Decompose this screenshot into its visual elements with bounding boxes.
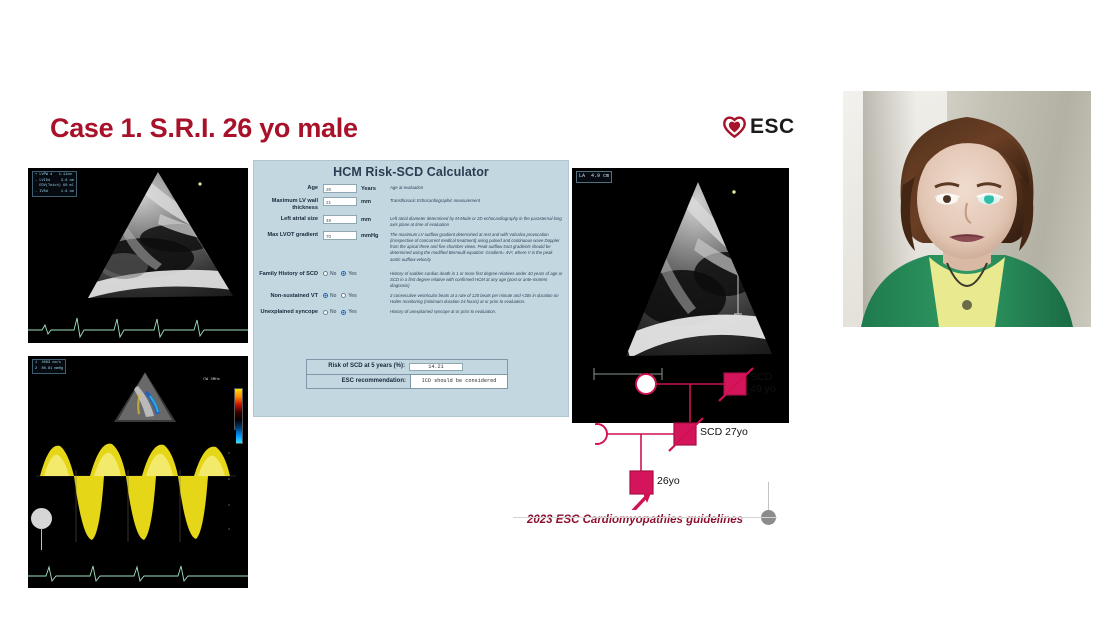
syncope-no-radio[interactable]: No: [323, 309, 336, 315]
field-label: Non-sustained VT: [256, 292, 323, 300]
calculator-radio-row: Unexplained syncope No Yes History of un…: [254, 308, 568, 319]
radio-label: No: [330, 293, 336, 299]
calculator-radio-row: Non-sustained VT No Yes 3 consecutive ve…: [254, 292, 568, 308]
field-description: The maximum LV outflow gradient determin…: [387, 231, 564, 262]
field-label: Age: [256, 184, 323, 192]
field-label: Max LVOT gradient: [256, 231, 323, 239]
page-title: Case 1. S.R.I. 26 yo male: [50, 113, 358, 144]
radio-dot: [323, 271, 328, 276]
esc-recommendation-value: ICD should be considered: [410, 375, 507, 389]
field-unit: mmHg: [361, 231, 378, 241]
field-description: History of unexplained syncope at or pri…: [387, 308, 564, 315]
field-description: History of sudden cardiac death in 1 or …: [387, 270, 564, 289]
ecg-trace: [28, 313, 248, 339]
echo-measurement-overlay: 1 4083 cm/s 2 80.81 mmHg: [32, 359, 66, 374]
slide-citation: 2023 ESC Cardiomyopathies guidelines: [527, 514, 743, 526]
syncope-yes-radio[interactable]: Yes: [341, 309, 356, 315]
family-history-yes-radio[interactable]: Yes: [341, 271, 356, 277]
field-unit: mm: [361, 215, 371, 225]
esc-logo: ESC: [722, 114, 795, 139]
field-description: Left atrial diameter determined by M-Mod…: [387, 215, 564, 228]
result-label: Risk of SCD at 5 years (%):: [307, 360, 409, 374]
handle-stem: [768, 482, 769, 510]
radio-label: No: [330, 271, 336, 277]
doppler-tag: CW 3MHz: [203, 378, 220, 382]
resize-handle-left[interactable]: [31, 508, 52, 529]
handle-stem: [41, 528, 42, 550]
radio-dot: [341, 271, 346, 276]
field-description: 3 consecutive ventricular beats at a rat…: [387, 292, 564, 305]
field-label: Left atrial size: [256, 215, 323, 223]
radio-dot: [323, 293, 328, 298]
presenter-video[interactable]: [843, 91, 1091, 327]
color-doppler-inset: [106, 370, 184, 428]
echo-image-parasternal-long-axis[interactable]: + LVPW d 1.11cm - LVIDd 3.8 cm EDV(Teich…: [28, 168, 248, 343]
esc-logo-text: ESC: [750, 115, 795, 139]
arrow-icon: [631, 493, 651, 510]
radio-dot: [323, 310, 328, 315]
result-row-recommendation: ESC recommendation: ICD should be consid…: [307, 375, 507, 389]
calculator-results: Risk of SCD at 5 years (%): 14.21 ESC re…: [306, 359, 508, 389]
ultrasound-sector: [586, 178, 786, 388]
pedigree-proband: [630, 471, 653, 494]
field-description: Age at evaluation: [387, 184, 564, 191]
svg-text:2: 2: [228, 503, 230, 507]
handle-guide-line: [513, 517, 777, 518]
pedigree-mother: [595, 424, 607, 444]
radio-label: Yes: [348, 293, 356, 299]
svg-text:4: 4: [228, 527, 230, 531]
presenter-figure: [843, 91, 1091, 327]
radio-dot: [341, 293, 346, 298]
age-input[interactable]: 26: [323, 184, 357, 193]
result-label: ESC recommendation:: [307, 375, 410, 389]
calculator-field-row: Left atrial size 49 mm Left atrial diame…: [254, 215, 568, 231]
radio-label: Yes: [348, 271, 356, 277]
left-atrial-size-input[interactable]: 49: [323, 215, 357, 224]
radio-label: Yes: [348, 309, 356, 315]
family-history-no-radio[interactable]: No: [323, 271, 336, 277]
svg-text:0: 0: [228, 477, 230, 481]
ecg-trace: [28, 558, 248, 584]
heart-icon: [722, 114, 747, 139]
result-row-risk: Risk of SCD at 5 years (%): 14.21: [307, 360, 507, 375]
echo-image-cw-doppler[interactable]: CW 3MHz: [28, 356, 248, 588]
echo-measurement-overlay: + LVPW d 1.11cm - LVIDd 3.8 cm EDV(Teich…: [32, 171, 77, 197]
risk-of-scd-value: 14.21: [409, 363, 463, 371]
field-unit: mm: [361, 197, 371, 207]
max-lv-wall-thickness-input[interactable]: 21: [323, 197, 357, 206]
max-lvot-gradient-input[interactable]: 70: [323, 231, 357, 240]
pedigree-label-father: SCD 27yo: [700, 426, 748, 438]
pedigree-grandmother: [636, 374, 656, 394]
calculator-field-row: Maximum LV wall thickness 21 mm Transtho…: [254, 197, 568, 215]
field-description: Transthoracic Echocardiographic measurem…: [387, 197, 564, 204]
field-label: Unexplained syncope: [256, 308, 323, 316]
nsvt-yes-radio[interactable]: Yes: [341, 293, 356, 299]
field-unit: Years: [361, 184, 376, 194]
field-label: Family History of SCD: [256, 270, 323, 278]
svg-text:2: 2: [228, 451, 230, 455]
calculator-radio-row: Family History of SCD No Yes History of …: [254, 266, 568, 292]
spectral-doppler-trace: 20 24: [36, 430, 236, 550]
field-label: Maximum LV wall thickness: [256, 197, 323, 212]
calculator-field-row: Age 26 Years Age at evaluation: [254, 184, 568, 197]
pedigree-label-grandfather: SCD 49 yo: [750, 371, 776, 395]
resize-handle-right[interactable]: [761, 510, 776, 525]
radio-dot: [341, 310, 346, 315]
hcm-risk-scd-calculator[interactable]: HCM Risk-SCD Calculator Age 26 Years Age…: [253, 160, 569, 417]
calculator-title: HCM Risk-SCD Calculator: [254, 161, 568, 184]
echo-measurement-overlay: LA 4.9 cm: [576, 171, 612, 183]
radio-label: No: [330, 309, 336, 315]
nsvt-no-radio[interactable]: No: [323, 293, 336, 299]
calculator-field-row: Max LVOT gradient 70 mmHg The maximum LV…: [254, 231, 568, 265]
presentation-slide[interactable]: Case 1. S.R.I. 26 yo male ESC: [0, 78, 816, 528]
family-pedigree-diagram: SCD 49 yo SCD 27yo 26yo: [595, 360, 795, 510]
pedigree-label-proband: 26yo: [657, 475, 680, 487]
